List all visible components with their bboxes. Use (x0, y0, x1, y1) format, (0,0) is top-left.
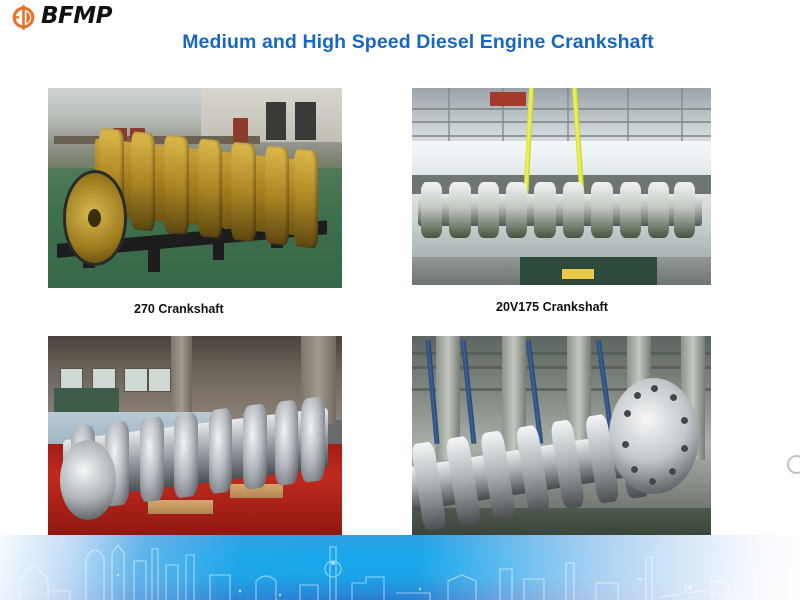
edge-circle-decoration (787, 455, 800, 474)
photo-20v175-crankshaft-scene (412, 88, 711, 285)
caption-20v175-crankshaft: 20V175 Crankshaft (496, 300, 608, 314)
brand-logo: BFMP (10, 3, 112, 31)
bfmp-circle-mark-icon (10, 4, 37, 31)
photo-pa6-finished-crankshaft-scene (48, 336, 342, 536)
page-title: Medium and High Speed Diesel Engine Cran… (0, 31, 800, 54)
photo-pa6-finished-crankshaft (48, 336, 342, 536)
brand-name: BFMP (41, 5, 112, 30)
footer-band (0, 535, 800, 600)
photo-270-crankshaft (48, 88, 342, 288)
caption-270-crankshaft: 270 Crankshaft (134, 302, 224, 316)
photo-20v175-crankshaft (412, 88, 711, 285)
photo-270-crankshaft-scene (48, 88, 342, 288)
photo-pc-finished-crankshaft-scene (412, 336, 711, 536)
photo-pc-finished-crankshaft (412, 336, 711, 536)
city-skyline-outline-icon (0, 535, 800, 600)
